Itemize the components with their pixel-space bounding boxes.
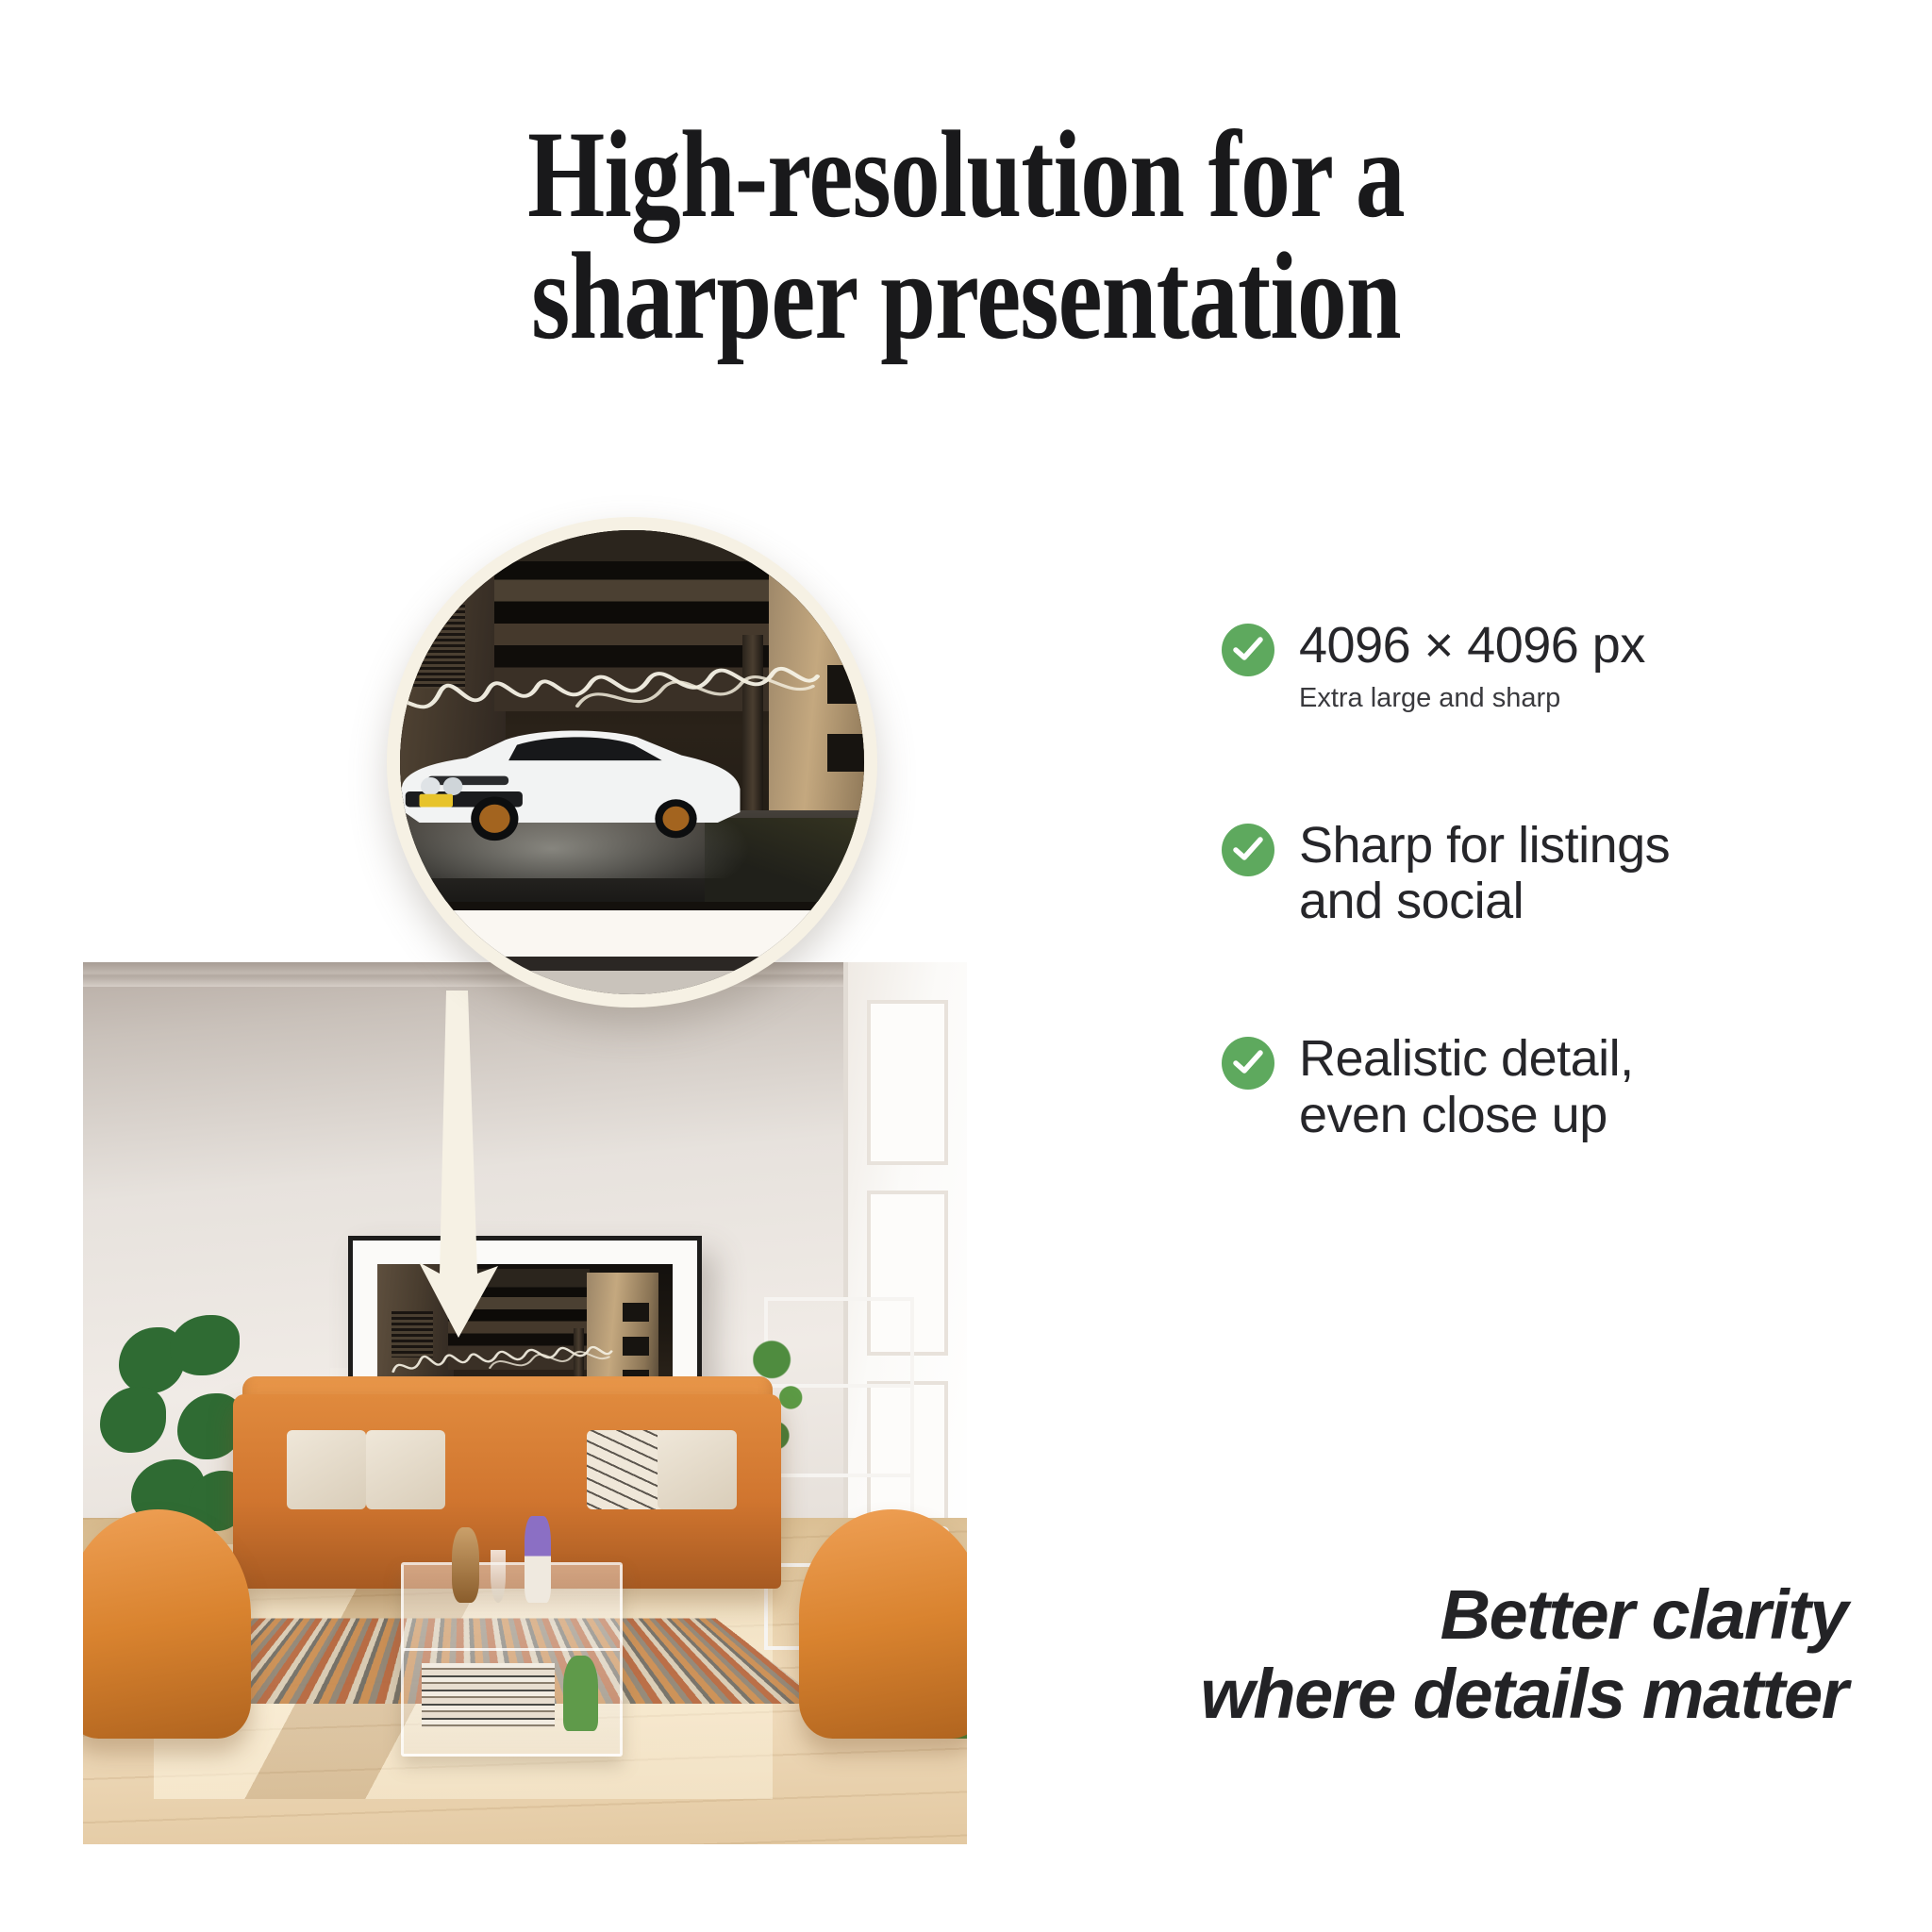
feature-item-listings: Sharp for listings and social (1222, 818, 1882, 930)
zoom-detail-circle (387, 517, 877, 1008)
feature-title-line-1: Sharp for listings (1299, 818, 1670, 874)
tagline-line-1: Better clarity (998, 1575, 1847, 1655)
feature-list: 4096 × 4096 px Extra large and sharp Sha… (1222, 618, 1882, 1245)
check-circle-icon (1222, 1037, 1274, 1090)
pillow (587, 1430, 666, 1509)
lavender-vase (525, 1516, 550, 1603)
page-title-line-2: sharper presentation (193, 235, 1739, 357)
page-title: High-resolution for a sharper presentati… (193, 113, 1739, 358)
acrylic-coffee-table (401, 1562, 622, 1757)
feature-title-line-1: Realistic detail, (1299, 1031, 1634, 1087)
feature-subtitle: Extra large and sharp (1299, 681, 1645, 715)
check-circle-icon (1222, 824, 1274, 876)
feature-title-line-2: and social (1299, 874, 1670, 929)
check-circle-icon (1222, 624, 1274, 676)
feature-item-resolution: 4096 × 4096 px Extra large and sharp (1222, 618, 1882, 716)
wine-glass (491, 1550, 506, 1603)
pillow (658, 1430, 737, 1509)
feature-title: 4096 × 4096 px (1299, 618, 1645, 674)
tagline-line-2: where details matter (998, 1655, 1847, 1734)
cactus-decor (563, 1656, 598, 1731)
feature-item-detail: Realistic detail, even close up (1222, 1031, 1882, 1143)
accent-chair-right (799, 1509, 967, 1739)
room-scene-photo (83, 962, 967, 1844)
pillow (366, 1430, 445, 1509)
tagline: Better clarity where details matter (998, 1575, 1847, 1735)
page-title-line-1: High-resolution for a (193, 113, 1739, 235)
accent-chair-left (83, 1509, 251, 1739)
feature-title-line-2: even close up (1299, 1088, 1634, 1143)
stacked-books (422, 1663, 556, 1727)
pillow (287, 1430, 366, 1509)
decanter (452, 1527, 480, 1603)
